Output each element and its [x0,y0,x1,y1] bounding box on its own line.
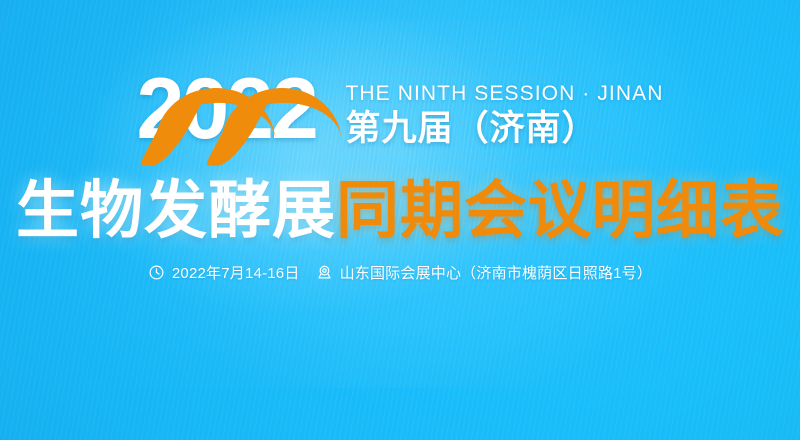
page-title-primary: 生物发酵展 [16,176,336,246]
event-date-text: 2022年7月14-16日 [172,262,300,283]
event-location-item: 山东国际会展中心（济南市槐荫区日照路1号） [316,262,653,283]
event-banner: 2022 THE NINTH SESSION · JINAN 第九届（济南） 生… [0,0,800,440]
logo-text-column: THE NINTH SESSION · JINAN 第九届（济南） [345,78,663,149]
session-chinese-label: 第九届（济南） [345,109,663,149]
session-english-label: THE NINTH SESSION · JINAN [345,82,663,105]
year-logo: 2022 [136,78,331,160]
clock-icon [148,264,165,281]
event-location-text: 山东国际会展中心（济南市槐荫区日照路1号） [340,262,653,283]
location-pin-icon [316,264,333,281]
event-info-row: 2022年7月14-16日 山东国际会展中心（济南市槐荫区日照路1号） [0,262,800,283]
banner-content: 2022 THE NINTH SESSION · JINAN 第九届（济南） 生… [0,0,800,440]
page-title: 生物发酵展同期会议明细表 [0,178,800,244]
event-date-item: 2022年7月14-16日 [148,262,300,283]
page-title-secondary: 同期会议明细表 [336,176,784,246]
logo-row: 2022 THE NINTH SESSION · JINAN 第九届（济南） [0,78,800,160]
